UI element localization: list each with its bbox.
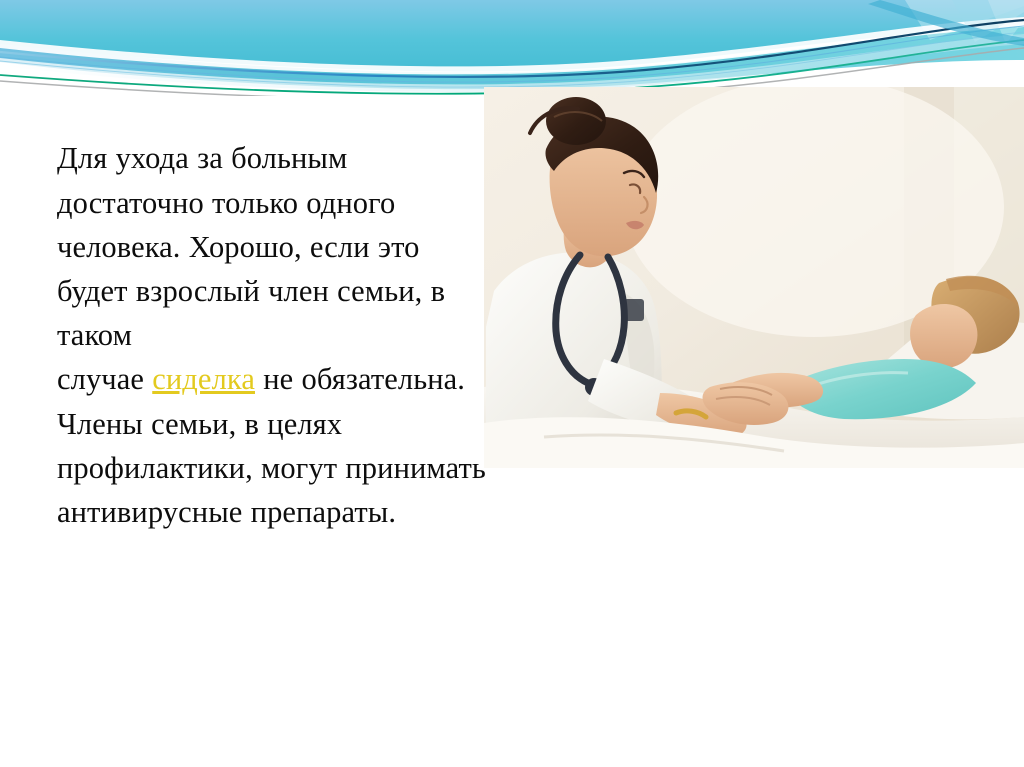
body-paragraph: Для ухода за больным достаточно только о… (57, 136, 487, 534)
wave-diagonal-stripes (905, 0, 1024, 44)
wave-right-tail (868, 0, 1024, 46)
photo-illustration (484, 87, 1024, 468)
nurse-holding-patient-hand-photo (484, 87, 1024, 468)
body-text-part-1: Для ухода за больным достаточно только о… (57, 141, 453, 396)
slide-body-text: Для ухода за больным достаточно только о… (57, 48, 487, 623)
photo-nurse-bun (546, 97, 606, 145)
presentation-slide: Для ухода за больным достаточно только о… (0, 0, 1024, 767)
photo-patient-face (910, 304, 977, 368)
sidelka-hyperlink[interactable]: сиделка (152, 362, 255, 396)
